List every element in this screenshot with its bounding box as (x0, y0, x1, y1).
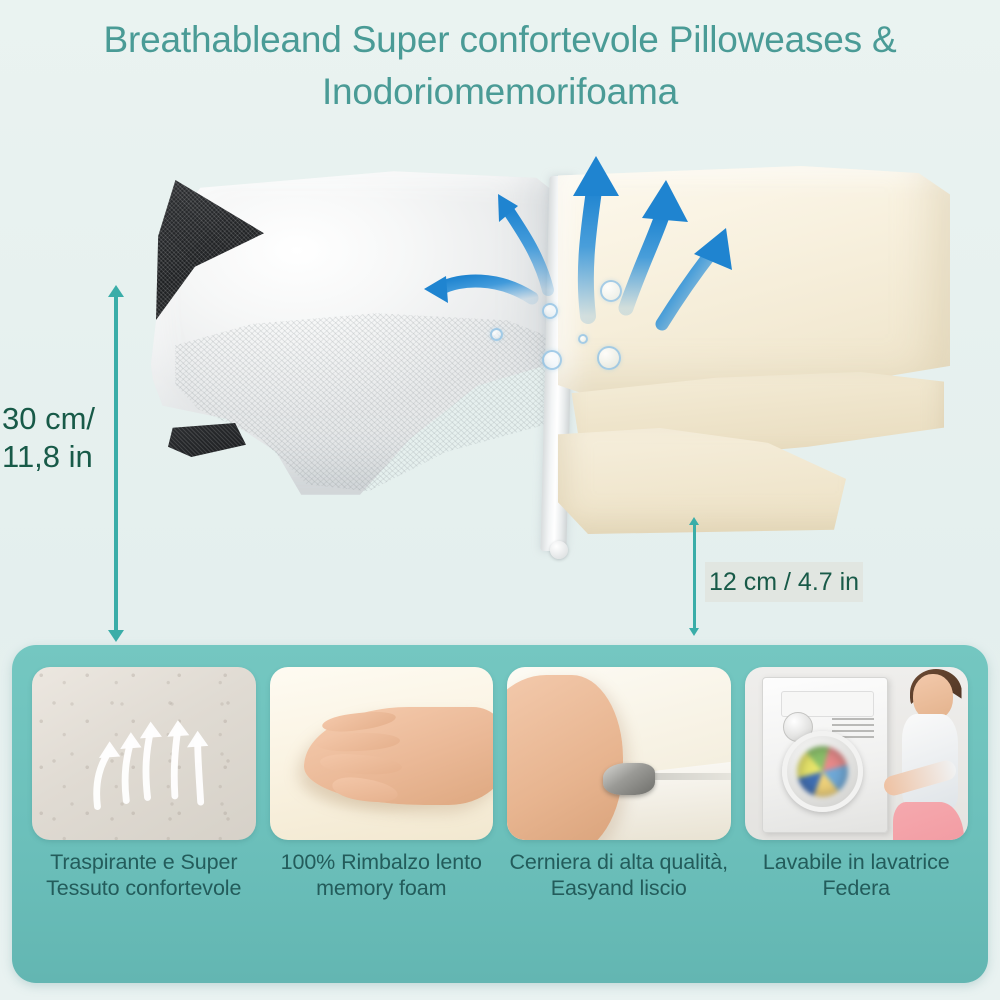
airflow-arrows-svg (420, 148, 740, 408)
zipper-pull-icon (550, 541, 568, 559)
height-label-in: 11,8 in (2, 438, 95, 476)
feature-item-slow-rebound[interactable]: 100% Rimbalzo lento memory foam (270, 667, 494, 901)
height-label-cm: 30 cm/ (2, 400, 95, 438)
person-arm (882, 758, 959, 798)
bubble-icon-1 (490, 328, 503, 341)
breathable-foam-thumbnail[interactable] (32, 667, 256, 840)
laundry-in-drum (797, 746, 848, 797)
hand-pinching-icon (507, 675, 623, 840)
slow-rebound-thumbnail[interactable] (270, 667, 494, 840)
feature-caption-washable: Lavabile in lavatrice Federa (763, 849, 950, 901)
bubble-icon-4 (578, 334, 588, 344)
washer-door-icon (782, 731, 863, 812)
feature-item-zipper[interactable]: Cerniera di alta qualità, Easyand liscio (507, 667, 731, 901)
person-figure (890, 674, 966, 837)
airflow-arrow-2 (498, 194, 548, 290)
feature-caption-slow-rebound: 100% Rimbalzo lento memory foam (281, 849, 482, 901)
zipper-tape (645, 773, 731, 780)
airflow-arrow-1 (424, 276, 532, 303)
depth-dimension-arrow (693, 524, 696, 629)
bubble-icon-6 (597, 346, 621, 370)
title-line-1: Breathableand Super confortevole Pillowe… (20, 14, 980, 66)
bubble-icon-3 (542, 350, 562, 370)
feature-item-washable[interactable]: Lavabile in lavatrice Federa (745, 667, 969, 901)
feature-panel: Traspirante e Super Tessuto confortevole… (12, 645, 988, 983)
feature-thumb-row: Traspirante e Super Tessuto confortevole… (32, 667, 968, 901)
airflow-arrows-group (420, 148, 740, 408)
height-dimension-arrow (114, 296, 118, 631)
page-title: Breathableand Super confortevole Pillowe… (0, 14, 1000, 118)
white-airflow-arrows-icon (32, 667, 256, 840)
zipper-thumbnail[interactable] (507, 667, 731, 840)
mesh-panel-bottom-icon (168, 423, 246, 457)
feature-caption-zipper: Cerniera di alta qualità, Easyand liscio (509, 849, 728, 901)
bubble-icon-5 (600, 280, 622, 302)
person-trousers (893, 802, 964, 840)
title-line-2: Inodoriomemorifoama (20, 66, 980, 118)
washing-machine-thumbnail[interactable] (745, 667, 969, 840)
pillow-illustration (150, 158, 950, 558)
zipper-pull-tab-icon (603, 763, 655, 795)
hero-product-image: 30 cm/ 11,8 in 12 cm / 4.7 in 63 cm / 24… (0, 128, 1000, 628)
height-dimension-label: 30 cm/ 11,8 in (2, 400, 95, 476)
bubble-icon-2 (542, 303, 558, 319)
washing-machine-icon (762, 677, 887, 833)
feature-item-breathable[interactable]: Traspirante e Super Tessuto confortevole (32, 667, 256, 901)
depth-dimension-label: 12 cm / 4.7 in (705, 562, 863, 602)
feature-caption-breathable: Traspirante e Super Tessuto confortevole (46, 849, 241, 901)
airflow-arrow-5 (662, 228, 732, 324)
person-shirt (902, 714, 958, 810)
